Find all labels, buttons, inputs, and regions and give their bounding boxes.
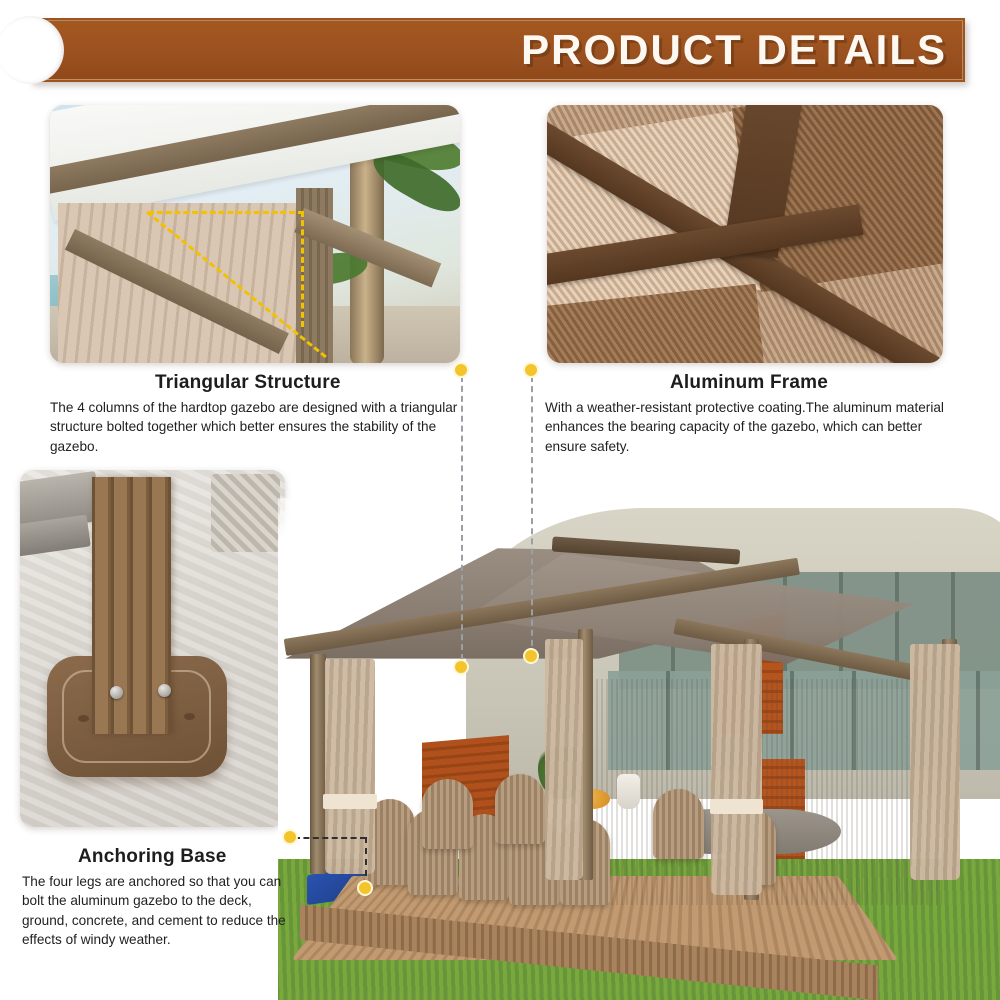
anchor-hole-icon (184, 713, 195, 720)
anchor-hole-icon (78, 715, 89, 722)
gazebo-column (310, 654, 325, 875)
photo-gazebo-corner (50, 105, 460, 363)
gazebo-curtain (711, 644, 762, 895)
connector-dot-triangular-top (455, 364, 467, 376)
table-vase (617, 774, 640, 809)
header-banner: PRODUCT DETAILS (30, 18, 970, 86)
connector-dot-triangular-bottom (455, 661, 467, 673)
dining-chair (422, 779, 473, 849)
feature-image-aluminum-frame (547, 105, 943, 363)
connector-line-anchor-horizontal (294, 837, 366, 839)
connector-dot-aluminum-top (525, 364, 537, 376)
dining-chair (495, 774, 546, 844)
connector-dot-anchor-end (359, 882, 371, 894)
connector-line-anchor-vertical (365, 837, 367, 887)
anchor-bolt-icon (110, 686, 123, 699)
feature-title-triangular-structure: Triangular Structure (155, 372, 341, 394)
curtain-tieback (323, 794, 376, 809)
triangle-highlight-marker (148, 211, 304, 327)
gazebo-curtain (545, 639, 583, 880)
curtain-tieback (710, 799, 763, 814)
decorative-lantern (211, 474, 280, 553)
banner-shape: PRODUCT DETAILS (30, 18, 965, 82)
feature-title-anchoring-base: Anchoring Base (78, 846, 227, 868)
feature-body-anchoring-base: The four legs are anchored so that you c… (22, 872, 292, 949)
infographic-canvas: PRODUCT DETAILS (0, 0, 1000, 1000)
photo-anchoring-base (20, 470, 285, 827)
feature-image-anchoring-base (20, 470, 285, 827)
fluted-gazebo-post (92, 477, 172, 734)
gazebo-curtain (910, 644, 961, 880)
connector-dot-aluminum-bottom (525, 650, 537, 662)
photo-aluminum-frame (547, 105, 943, 363)
page-title: PRODUCT DETAILS (521, 26, 947, 74)
feature-body-aluminum-frame: With a weather-resistant protective coat… (545, 398, 945, 456)
feature-image-triangular-structure (50, 105, 460, 363)
anchor-bolt-icon (158, 684, 171, 697)
connector-dot-anchor-start (284, 831, 296, 843)
connector-line-aluminum (531, 376, 533, 656)
feature-title-aluminum-frame: Aluminum Frame (670, 372, 828, 394)
feature-body-triangular-structure: The 4 columns of the hardtop gazebo are … (50, 398, 462, 456)
gazebo-curtain (325, 659, 376, 875)
hero-image-gazebo-scene (278, 498, 1000, 1000)
dining-chair (653, 789, 704, 859)
